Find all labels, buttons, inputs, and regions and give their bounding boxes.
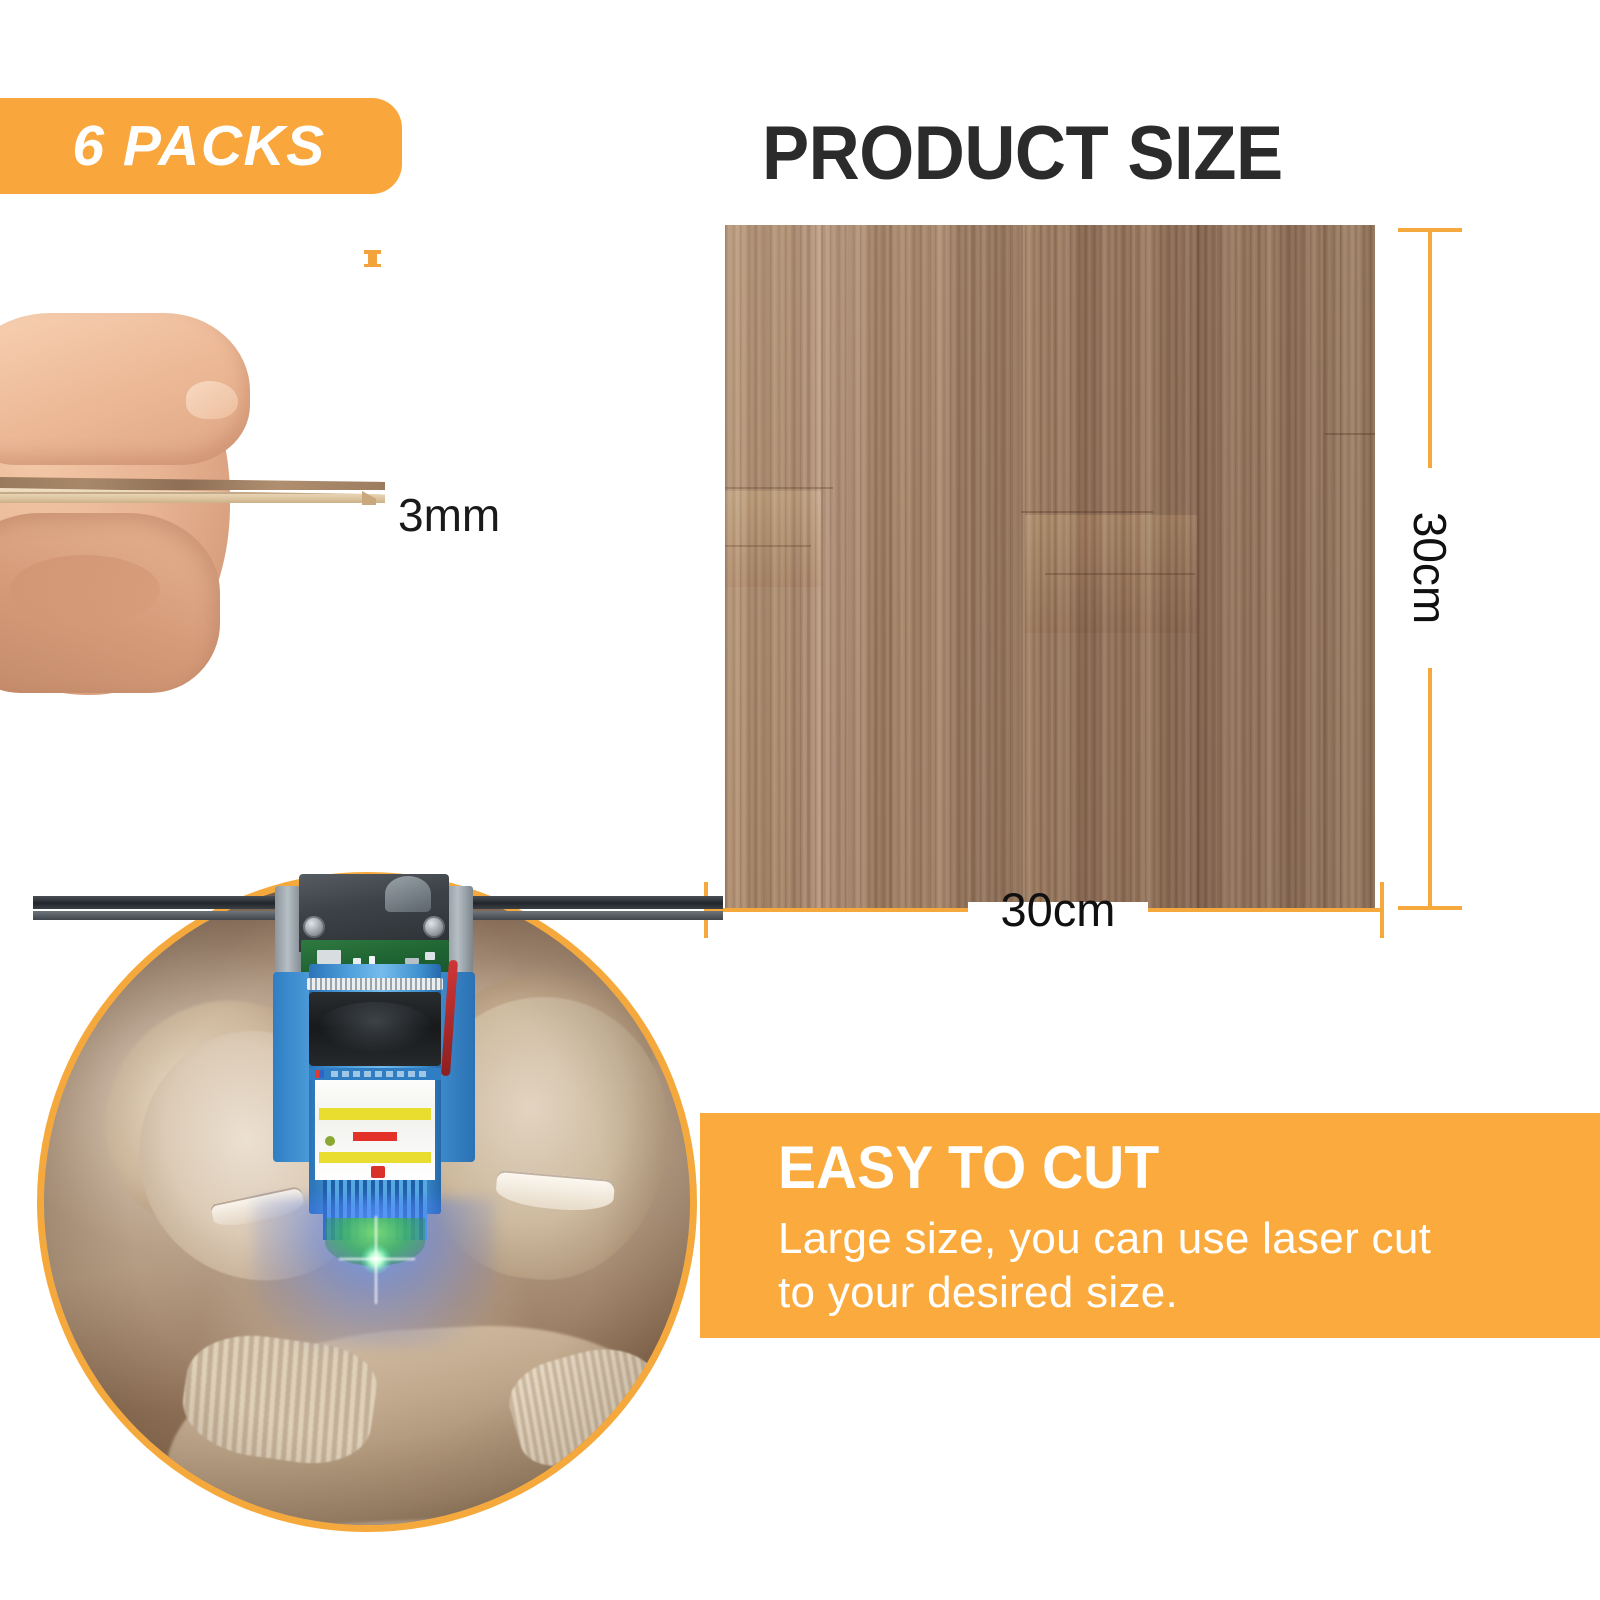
board-tip bbox=[362, 491, 376, 505]
panel-shading bbox=[725, 225, 1375, 910]
plywood-board-edge bbox=[0, 477, 385, 505]
laser-module bbox=[263, 868, 485, 1298]
feature-banner-body: Large size, you can use laser cut to you… bbox=[778, 1212, 1468, 1319]
fingernail bbox=[186, 381, 238, 419]
label-red-dot bbox=[371, 1166, 385, 1178]
cooling-fan bbox=[309, 992, 441, 1066]
product-infographic: 6 PACKS PRODUCT SIZE 3mm 30 bbox=[0, 0, 1600, 1600]
wood-panel bbox=[725, 225, 1375, 910]
warning-label-panel bbox=[315, 1080, 435, 1180]
laser-lens-dome bbox=[385, 876, 431, 912]
height-dimension-cap-bottom bbox=[1398, 906, 1462, 910]
label-yellow-stripe bbox=[319, 1152, 431, 1163]
width-dimension-cap-right bbox=[1380, 882, 1384, 938]
board-core-layers bbox=[0, 488, 385, 503]
pcb-chip bbox=[317, 950, 341, 964]
packs-badge: 6 PACKS bbox=[0, 98, 402, 194]
packs-badge-label: 6 PACKS bbox=[46, 113, 325, 179]
height-dimension-label: 30cm bbox=[1395, 462, 1465, 674]
heatsink-fins bbox=[307, 978, 443, 990]
pcb-chip bbox=[425, 952, 435, 960]
label-red-bar bbox=[353, 1132, 397, 1141]
screw-icon bbox=[423, 916, 445, 938]
width-dimension-label: 30cm bbox=[968, 882, 1148, 937]
height-dimension-cap-top bbox=[1398, 228, 1462, 232]
label-green-dot bbox=[325, 1136, 335, 1146]
hand-holding-board-photo bbox=[0, 255, 420, 755]
thickness-marker-icon bbox=[368, 250, 377, 267]
board-veneer-top bbox=[0, 477, 385, 490]
thickness-label: 3mm bbox=[398, 488, 500, 542]
feature-banner-title: EASY TO CUT bbox=[778, 1133, 1159, 1202]
screw-icon bbox=[303, 916, 325, 938]
brand-text-mark bbox=[331, 1071, 427, 1077]
label-yellow-stripe bbox=[319, 1108, 431, 1120]
height-dimension-value: 30cm bbox=[1403, 512, 1457, 624]
width-dimension-cap-left bbox=[704, 882, 708, 938]
brand-logo-icon bbox=[315, 1070, 324, 1078]
knuckle-shading bbox=[10, 555, 160, 625]
laser-spark-icon bbox=[361, 1244, 391, 1274]
page-title: PRODUCT SIZE bbox=[762, 110, 1283, 197]
